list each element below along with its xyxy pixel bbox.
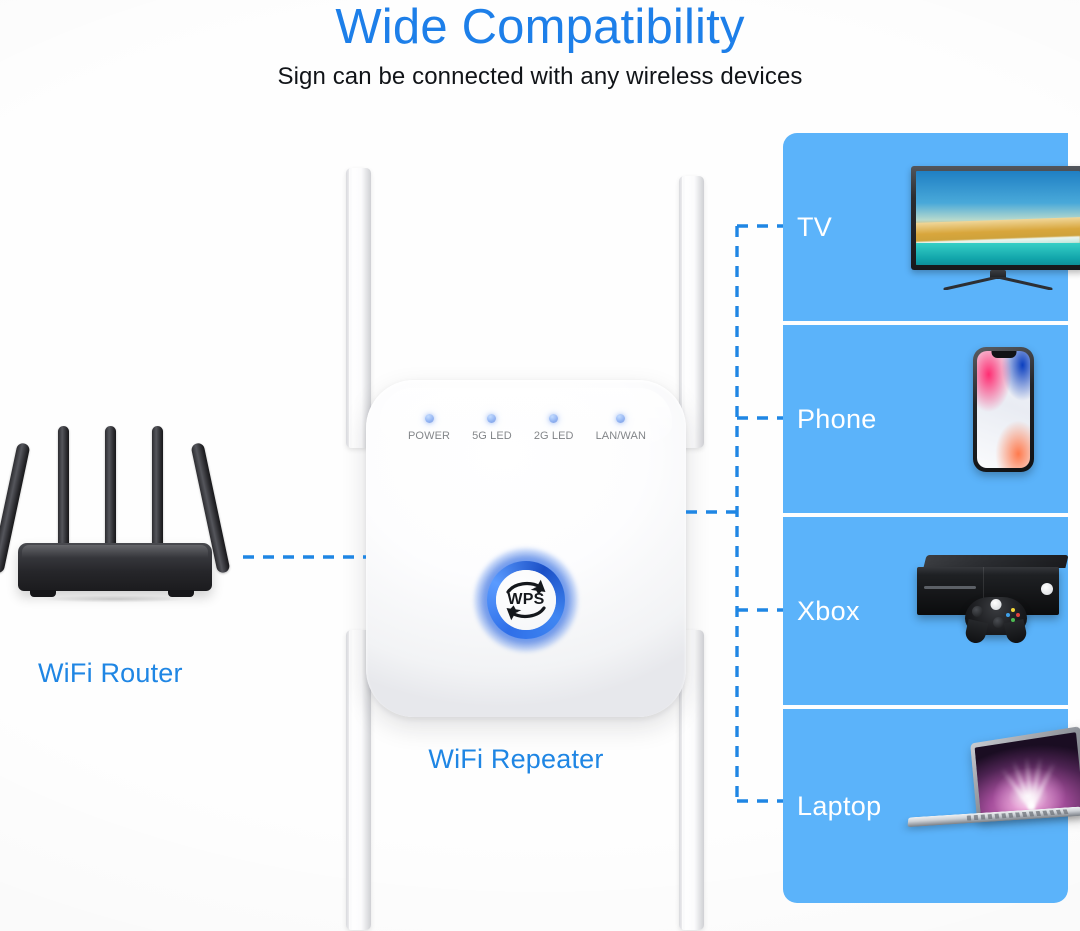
device-panel-phone[interactable]: Phone <box>783 325 1068 513</box>
wps-button[interactable]: WPS <box>474 548 578 652</box>
router-label: WiFi Router <box>38 658 183 689</box>
tv-stand <box>941 277 1055 290</box>
repeater-antenna-top-right <box>679 176 704 448</box>
led-label: LAN/WAN <box>596 430 646 442</box>
router-antenna-4 <box>152 426 163 556</box>
controller-guide-button <box>991 599 1002 610</box>
led-power: POWER <box>408 414 450 442</box>
laptop-screen <box>975 732 1080 816</box>
led-indicator-row: POWER 5G LED 2G LED LAN/WAN <box>408 414 646 442</box>
router-antenna-3 <box>105 426 116 556</box>
xbox-disc-slot <box>924 586 976 589</box>
laptop-graphic <box>909 735 1080 845</box>
led-label: 2G LED <box>534 430 574 442</box>
led-dot-power-icon <box>425 414 434 423</box>
xbox-graphic <box>917 555 1067 617</box>
device-panel-xbox[interactable]: Xbox <box>783 517 1068 705</box>
led-2g: 2G LED <box>534 414 574 442</box>
led-dot-5g-icon <box>487 414 496 423</box>
page-title: Wide Compatibility <box>0 0 1080 56</box>
router-body <box>18 543 212 591</box>
tv-screen <box>916 171 1080 265</box>
device-label: Laptop <box>797 791 889 822</box>
repeater-label: WiFi Repeater <box>330 744 702 775</box>
repeater-body: POWER 5G LED 2G LED LAN/WAN <box>366 380 686 717</box>
page-subtitle: Sign can be connected with any wireless … <box>0 62 1080 92</box>
led-dot-2g-icon <box>549 414 558 423</box>
tv-graphic <box>911 166 1080 270</box>
wifi-router-illustration <box>0 418 250 608</box>
controller-face-buttons <box>1006 608 1020 622</box>
wifi-repeater-illustration: POWER 5G LED 2G LED LAN/WAN <box>330 168 702 930</box>
led-dot-lan-wan-icon <box>616 414 625 423</box>
repeater-antenna-top-left <box>346 168 371 448</box>
router-shadow <box>12 594 218 604</box>
tv-screen-sea <box>916 243 1080 265</box>
controller-left-stick <box>972 606 983 617</box>
laptop-lid <box>970 726 1080 821</box>
led-label: POWER <box>408 430 450 442</box>
router-antenna-2 <box>58 426 69 556</box>
device-label: Xbox <box>797 596 889 627</box>
device-label: Phone <box>797 404 889 435</box>
device-panel-tv[interactable]: TV <box>783 133 1068 321</box>
led-lan-wan: LAN/WAN <box>596 414 646 442</box>
phone-screen <box>977 351 1030 468</box>
led-label: 5G LED <box>472 430 512 442</box>
xbox-controller-icon <box>965 597 1027 635</box>
compatible-devices-list: TV Phone <box>783 133 1068 903</box>
infographic-canvas: Wide Compatibility Sign can be connected… <box>0 0 1080 931</box>
phone-graphic <box>973 347 1034 472</box>
game-console-icon <box>889 517 1068 705</box>
led-5g: 5G LED <box>472 414 512 442</box>
refresh-arrows-icon <box>496 570 556 630</box>
smartphone-icon <box>889 325 1068 513</box>
xbox-logo-icon <box>1041 583 1053 595</box>
laptop-icon <box>889 709 1068 903</box>
television-icon <box>889 133 1068 321</box>
device-label: TV <box>797 212 889 243</box>
device-panel-laptop[interactable]: Laptop <box>783 709 1068 903</box>
controller-right-stick <box>993 617 1004 628</box>
phone-notch <box>991 351 1016 358</box>
